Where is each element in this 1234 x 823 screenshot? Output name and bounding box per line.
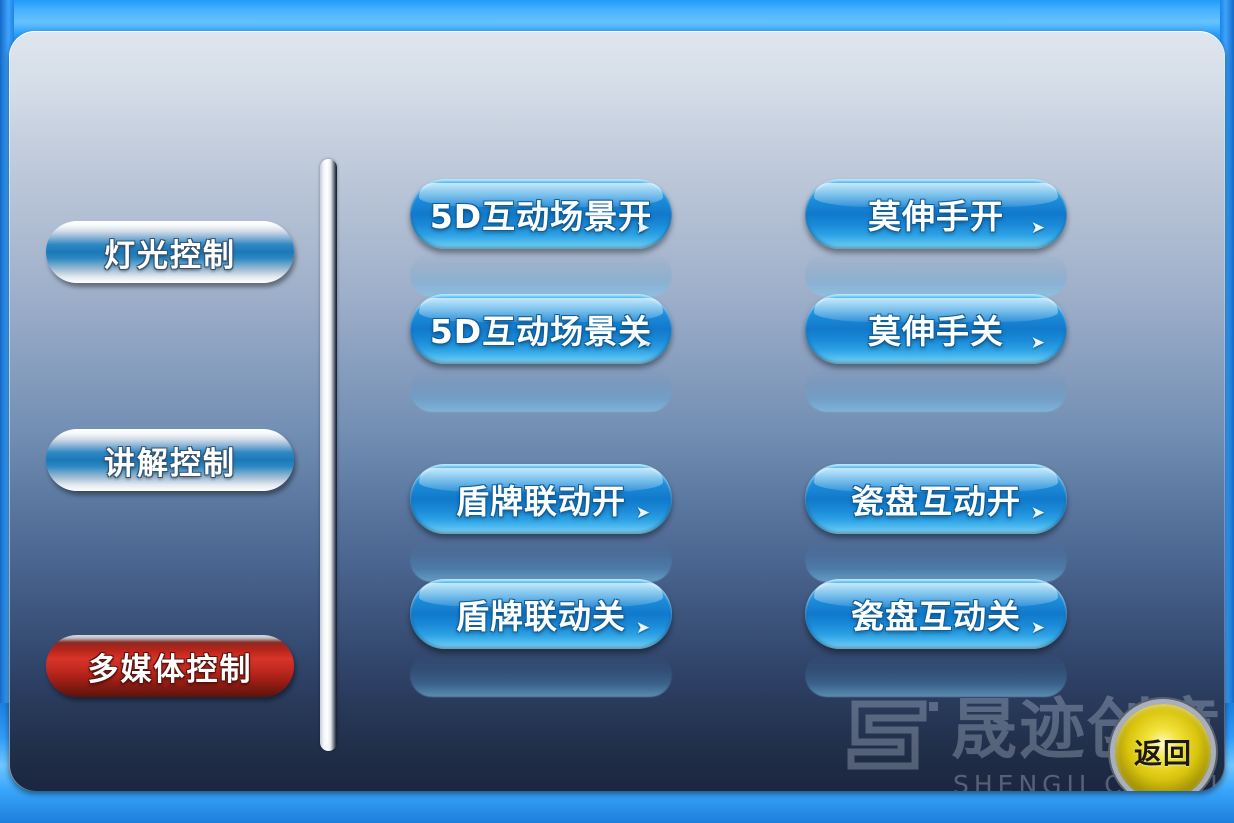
chevron-right-icon: ➤ (636, 620, 650, 637)
action-button-porcelain-plate-on[interactable]: 瓷盘互动开 ➤ (805, 464, 1067, 534)
action-button-mo-shen-shou-off-wrap: 莫伸手关 ➤ (805, 294, 1067, 414)
button-reflection (410, 253, 672, 297)
action-button-label: 5D互动场景关 (430, 305, 652, 353)
chevron-right-icon: ➤ (1031, 335, 1045, 352)
return-button[interactable]: 返回 (1115, 704, 1211, 791)
return-button-label: 返回 (1134, 732, 1192, 772)
action-button-shield-link-off[interactable]: 盾牌联动关 ➤ (410, 579, 672, 649)
action-button-mo-shen-shou-on-wrap: 莫伸手开 ➤ (805, 179, 1067, 299)
action-button-porcelain-plate-on-wrap: 瓷盘互动开 ➤ (805, 464, 1067, 584)
shengji-logo-icon (845, 696, 941, 776)
action-button-shield-link-on[interactable]: 盾牌联动开 ➤ (410, 464, 672, 534)
app-screen: 晟迹创意 SHENGJI CREATIVE 灯光控制 讲解控制 多媒体控制 5D… (0, 0, 1234, 823)
button-reflection (805, 368, 1067, 412)
action-button-porcelain-plate-off-wrap: 瓷盘互动关 ➤ (805, 579, 1067, 699)
action-button-porcelain-plate-off[interactable]: 瓷盘互动关 ➤ (805, 579, 1067, 649)
button-reflection (805, 538, 1067, 582)
action-button-shield-link-on-wrap: 盾牌联动开 ➤ (410, 464, 672, 584)
sidebar-item-label: 讲解控制 (104, 438, 236, 483)
button-reflection (410, 653, 672, 697)
action-button-label: 莫伸手关 (868, 305, 1004, 353)
sidebar-item-multimedia-control[interactable]: 多媒体控制 (46, 635, 294, 697)
main-panel: 晟迹创意 SHENGJI CREATIVE 灯光控制 讲解控制 多媒体控制 5D… (9, 31, 1225, 791)
action-button-label: 盾牌联动开 (456, 475, 626, 523)
action-button-label: 莫伸手开 (868, 190, 1004, 238)
button-reflection (805, 253, 1067, 297)
chevron-right-icon: ➤ (636, 335, 650, 352)
chevron-right-icon: ➤ (636, 505, 650, 522)
chevron-right-icon: ➤ (636, 220, 650, 237)
action-button-label: 瓷盘互动开 (851, 475, 1021, 523)
action-button-5d-scene-off[interactable]: 5D互动场景关 ➤ (410, 294, 672, 364)
chevron-right-icon: ➤ (1031, 220, 1045, 237)
button-reflection (805, 653, 1067, 697)
action-button-5d-scene-off-wrap: 5D互动场景关 ➤ (410, 294, 672, 414)
sidebar-item-label: 灯光控制 (104, 230, 236, 275)
action-button-label: 瓷盘互动关 (851, 590, 1021, 638)
action-button-mo-shen-shou-on[interactable]: 莫伸手开 ➤ (805, 179, 1067, 249)
action-button-label: 5D互动场景开 (430, 190, 652, 238)
chevron-right-icon: ➤ (1031, 620, 1045, 637)
action-button-5d-scene-on[interactable]: 5D互动场景开 ➤ (410, 179, 672, 249)
action-button-label: 盾牌联动关 (456, 590, 626, 638)
vertical-divider (320, 159, 337, 751)
action-button-5d-scene-on-wrap: 5D互动场景开 ➤ (410, 179, 672, 299)
chevron-right-icon: ➤ (1031, 505, 1045, 522)
sidebar-item-label: 多媒体控制 (88, 644, 253, 689)
button-reflection (410, 538, 672, 582)
sidebar-item-narration-control[interactable]: 讲解控制 (46, 429, 294, 491)
action-button-mo-shen-shou-off[interactable]: 莫伸手关 ➤ (805, 294, 1067, 364)
action-button-shield-link-off-wrap: 盾牌联动关 ➤ (410, 579, 672, 699)
button-reflection (410, 368, 672, 412)
sidebar-item-lighting-control[interactable]: 灯光控制 (46, 221, 294, 283)
